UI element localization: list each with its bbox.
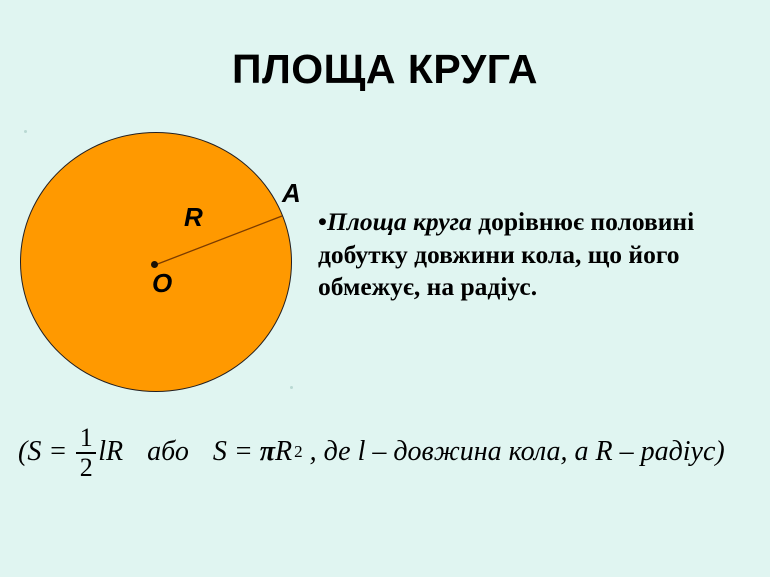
slide-canvas: ПЛОЩА КРУГА R A O •Площа круга дорівнює …: [0, 0, 770, 577]
formula-line: ( S = 1 2 lR або S = π R 2 , де l – довж…: [18, 424, 758, 480]
definition-paragraph: •Площа круга дорівнює половині добутку д…: [318, 206, 758, 304]
formula-lR: lR: [98, 436, 123, 468]
formula-one-half-fraction: 1 2: [76, 425, 96, 481]
formula-tail-text: , де l – довжина кола, а R – радіус): [310, 436, 725, 468]
page-title: ПЛОЩА КРУГА: [0, 48, 770, 91]
fraction-numerator: 1: [80, 425, 93, 452]
label-point-A: A: [282, 180, 301, 206]
formula-equals-first: =: [48, 436, 67, 468]
center-point-marker: [151, 261, 158, 268]
bullet-marker: •: [318, 207, 327, 236]
fraction-denominator: 2: [80, 454, 93, 481]
radius-line-svg: [14, 118, 314, 408]
formula-s-first: S: [27, 436, 41, 468]
formula-equals-second: =: [234, 436, 253, 468]
formula-exponent: 2: [292, 442, 303, 462]
formula-conjunction: або: [147, 436, 189, 468]
radius-line: [155, 216, 282, 265]
label-radius-R: R: [184, 204, 203, 230]
label-center-O: O: [152, 270, 172, 296]
formula-radius-symbol: R: [275, 436, 292, 468]
circle-diagram: R A O: [14, 118, 314, 408]
formula-open-paren: (: [18, 436, 27, 468]
definition-emphasis: Площа круга: [327, 207, 472, 236]
formula-s-second: S: [213, 436, 227, 468]
formula-pi-symbol: π: [260, 436, 275, 468]
